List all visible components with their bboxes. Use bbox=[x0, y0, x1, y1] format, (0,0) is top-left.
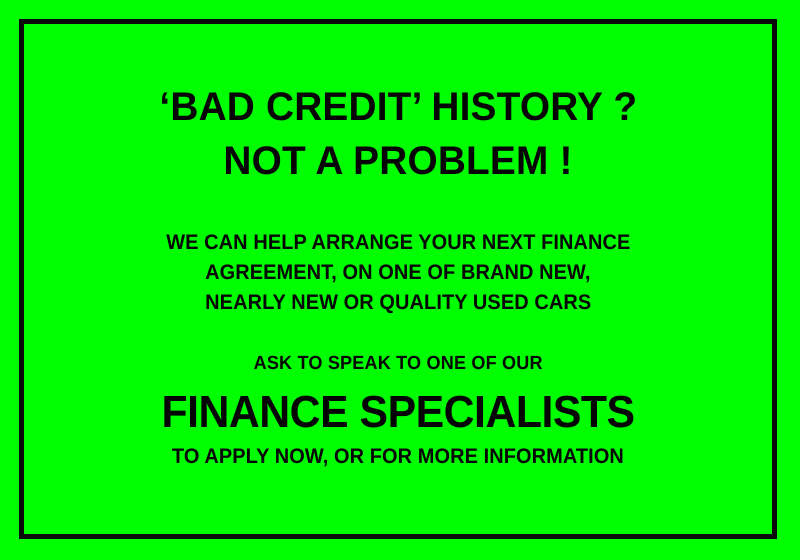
cta-tail-text: TO APPLY NOW, OR FOR MORE INFORMATION bbox=[172, 443, 624, 471]
headline-line-1: ‘BAD CREDIT’ HISTORY ? bbox=[159, 80, 637, 134]
poster-content: ‘BAD CREDIT’ HISTORY ? NOT A PROBLEM ! W… bbox=[19, 19, 777, 539]
body-line-1: WE CAN HELP ARRANGE YOUR NEXT FINANCE bbox=[166, 228, 630, 258]
cta-lead-text: ASK TO SPEAK TO ONE OF OUR bbox=[253, 351, 542, 377]
body-line-3: NEARLY NEW OR QUALITY USED CARS bbox=[205, 288, 591, 318]
call-to-action-block: ASK TO SPEAK TO ONE OF OUR FINANCE SPECI… bbox=[149, 351, 647, 471]
advertisement-poster: ‘BAD CREDIT’ HISTORY ? NOT A PROBLEM ! W… bbox=[0, 0, 800, 560]
body-paragraph-block: WE CAN HELP ARRANGE YOUR NEXT FINANCE AG… bbox=[154, 228, 643, 318]
headline-line-2: NOT A PROBLEM ! bbox=[223, 134, 572, 188]
cta-headline-finance-specialists: FINANCE SPECIALISTS bbox=[161, 384, 634, 440]
body-line-2: AGREEMENT, ON ONE OF BRAND NEW, bbox=[205, 258, 590, 288]
headline-block: ‘BAD CREDIT’ HISTORY ? NOT A PROBLEM ! bbox=[152, 80, 645, 188]
